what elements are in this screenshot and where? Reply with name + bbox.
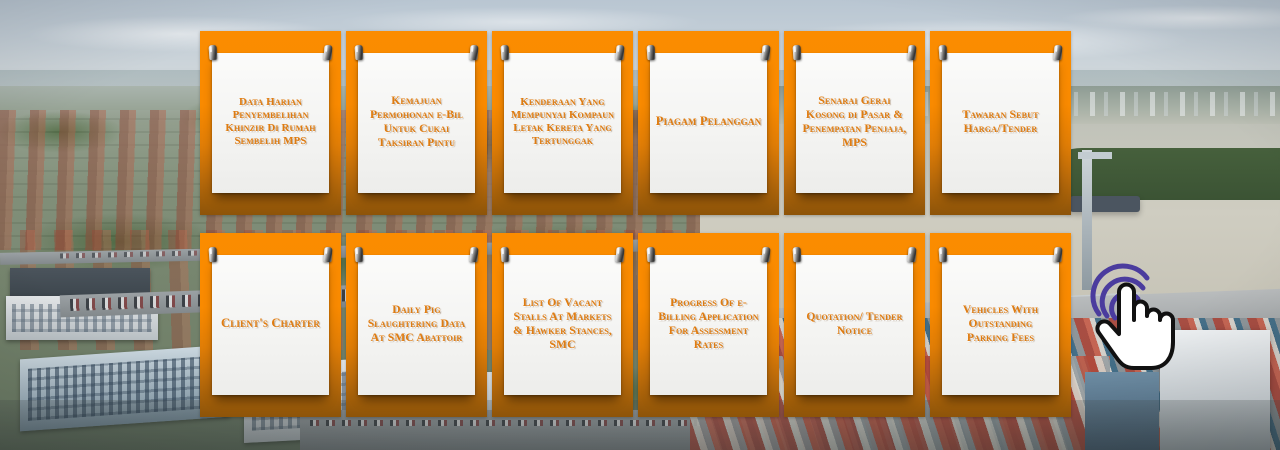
card-title: Progress Of e-Billing Application For As… (655, 296, 762, 352)
card-paper[interactable]: Kenderaan Yang Mempunyai Kompaun Letak K… (504, 53, 621, 193)
card-paper[interactable]: Vehicles With Outstanding Parking Fees (942, 255, 1059, 395)
service-card-1[interactable]: Data Harian Penyembelihan Khinzir Di Rum… (200, 31, 341, 215)
card-paper[interactable]: Tawaran Sebut Harga/Tender (942, 53, 1059, 193)
binder-clip-icon (1053, 45, 1062, 61)
service-card-5[interactable]: Senarai Gerai Kosong di Pasar & Penempat… (784, 31, 925, 215)
service-card-9[interactable]: List Of Vacant Stalls At Markets & Hawke… (492, 233, 633, 417)
binder-clip-icon (615, 45, 624, 61)
card-paper[interactable]: Daily Pig Slaughtering Data At SMC Abatt… (358, 255, 475, 395)
service-card-7[interactable]: Client's Charter (200, 233, 341, 417)
binder-clip-icon (792, 247, 801, 263)
binder-clip-icon (208, 45, 217, 61)
binder-clip-icon (907, 45, 916, 61)
card-title: Kemajuan Permohonan e-Bil Untuk Cukai Ta… (363, 94, 470, 150)
card-paper[interactable]: Progress Of e-Billing Application For As… (650, 255, 767, 395)
binder-clip-icon (938, 45, 947, 61)
service-card-8[interactable]: Daily Pig Slaughtering Data At SMC Abatt… (346, 233, 487, 417)
card-paper[interactable]: Kemajuan Permohonan e-Bil Untuk Cukai Ta… (358, 53, 475, 193)
card-paper[interactable]: List Of Vacant Stalls At Markets & Hawke… (504, 255, 621, 395)
binder-clip-icon (792, 45, 801, 61)
card-title: Data Harian Penyembelihan Khinzir Di Rum… (217, 96, 324, 148)
service-card-11[interactable]: Quotation/ Tender Notice (784, 233, 925, 417)
screen: Data Harian Penyembelihan Khinzir Di Rum… (0, 0, 1280, 450)
binder-clip-icon (646, 247, 655, 263)
binder-clip-icon (500, 45, 509, 61)
binder-clip-icon (323, 45, 332, 61)
binder-clip-icon (615, 247, 624, 263)
card-title: List Of Vacant Stalls At Markets & Hawke… (509, 296, 616, 352)
service-card-12[interactable]: Vehicles With Outstanding Parking Fees (930, 233, 1071, 417)
binder-clip-icon (1053, 247, 1062, 263)
card-paper[interactable]: Client's Charter (212, 255, 329, 395)
binder-clip-icon (323, 247, 332, 263)
binder-clip-icon (907, 247, 916, 263)
card-title: Kenderaan Yang Mempunyai Kompaun Letak K… (509, 96, 616, 148)
card-title: Daily Pig Slaughtering Data At SMC Abatt… (363, 303, 470, 345)
card-paper[interactable]: Piagam Pelanggan (650, 53, 767, 193)
card-title: Quotation/ Tender Notice (801, 310, 908, 338)
service-card-3[interactable]: Kenderaan Yang Mempunyai Kompaun Letak K… (492, 31, 633, 215)
binder-clip-icon (354, 247, 363, 263)
service-card-2[interactable]: Kemajuan Permohonan e-Bil Untuk Cukai Ta… (346, 31, 487, 215)
binder-clip-icon (938, 247, 947, 263)
binder-clip-icon (646, 45, 655, 61)
binder-clip-icon (469, 45, 478, 61)
service-card-6[interactable]: Tawaran Sebut Harga/Tender (930, 31, 1071, 215)
binder-clip-icon (354, 45, 363, 61)
card-row-1: Data Harian Penyembelihan Khinzir Di Rum… (200, 31, 1080, 215)
binder-clip-icon (208, 247, 217, 263)
service-card-grid: Data Harian Penyembelihan Khinzir Di Rum… (200, 31, 1080, 417)
binder-clip-icon (761, 45, 770, 61)
card-paper[interactable]: Senarai Gerai Kosong di Pasar & Penempat… (796, 53, 913, 193)
card-title: Tawaran Sebut Harga/Tender (947, 108, 1054, 136)
card-row-2: Client's Charter Daily Pig Slaughtering … (200, 233, 1080, 417)
binder-clip-icon (469, 247, 478, 263)
binder-clip-icon (761, 247, 770, 263)
card-title: Piagam Pelanggan (656, 114, 762, 129)
service-card-10[interactable]: Progress Of e-Billing Application For As… (638, 233, 779, 417)
card-paper[interactable]: Data Harian Penyembelihan Khinzir Di Rum… (212, 53, 329, 193)
card-paper[interactable]: Quotation/ Tender Notice (796, 255, 913, 395)
binder-clip-icon (500, 247, 509, 263)
card-title: Vehicles With Outstanding Parking Fees (947, 303, 1054, 345)
card-title: Client's Charter (221, 316, 320, 331)
card-title: Senarai Gerai Kosong di Pasar & Penempat… (801, 94, 908, 150)
service-card-4[interactable]: Piagam Pelanggan (638, 31, 779, 215)
